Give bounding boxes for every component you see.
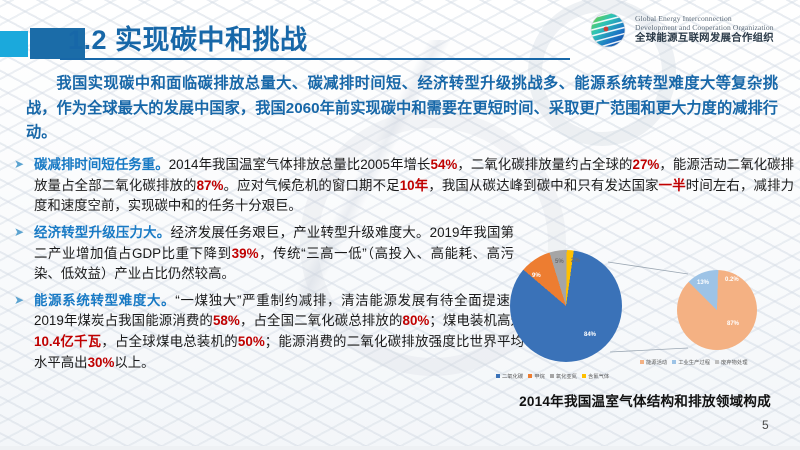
legend-greenhouse-gas: 二氧化碳 甲烷 氧化亚氮 含氟气体 (496, 372, 609, 380)
body-run: ，占全国二氧化碳总排放的 (240, 313, 403, 328)
pie-label-energy: 87% (727, 321, 739, 327)
slide-bottom-edge (0, 446, 800, 450)
body-run: 2014年我国温室气体排放总量比2005年增长 (169, 157, 431, 172)
list-item: ➤ 经济转型升级压力大。经济发展任务艰巨，产业转型升级难度大。2019年我国第二… (14, 223, 514, 285)
slide-header: 1.2 实现碳中和挑战 (0, 0, 800, 68)
highlight-value: 58% (213, 313, 240, 328)
legend-item: 甲烷 (528, 372, 545, 380)
pie-label-methane: 9% (532, 273, 541, 279)
legend-item: 氧化亚氮 (550, 372, 577, 380)
arrow-bullet-icon: ➤ (14, 224, 24, 241)
header-accent-square-cyan (0, 31, 28, 57)
highlight-value: 87% (197, 178, 224, 193)
organization-logo: Global Energy Interconnection Developmen… (588, 6, 796, 54)
page-title: 1.2 实现碳中和挑战 (68, 18, 308, 57)
body-run: ，占全球煤电总装机的 (101, 334, 238, 349)
highlight-value: 50% (238, 334, 265, 349)
highlight-value: 10年 (400, 178, 429, 193)
highlight-value: 54% (431, 157, 458, 172)
legend-swatch (672, 360, 676, 364)
highlight-value: 30% (88, 355, 115, 370)
legend-label: 能源活动 (646, 358, 667, 366)
legend-item: 含氟气体 (582, 372, 609, 380)
page-number: 5 (762, 418, 769, 432)
body-run: ，二氧化碳排放量约占全球的 (457, 157, 632, 172)
legend-label: 含氟气体 (588, 372, 609, 380)
legend-item: 二氧化碳 (496, 372, 523, 380)
bullet-text-2: 经济转型升级压力大。经济发展任务艰巨，产业转型升级难度大。2019年我国第二产业… (34, 223, 514, 285)
legend-label: 二氧化碳 (502, 372, 523, 380)
bullet-text-1: 碳减排时间短任务重。2014年我国温室气体排放总量比2005年增长54%，二氧化… (34, 155, 794, 217)
highlight-value: 27% (633, 157, 660, 172)
highlight-value: 10.4亿千瓦 (34, 334, 101, 349)
legend-swatch (582, 374, 586, 378)
pie-chart-greenhouse-gas (510, 250, 622, 362)
pie-label-co2: 84% (584, 332, 596, 338)
bullet-lead-1: 碳减排时间短任务重。 (34, 157, 169, 172)
legend-item: 工业生产过程 (672, 358, 710, 366)
pie-label-fgas: 2% (571, 258, 580, 264)
pie-label-industry: 13% (697, 280, 709, 286)
legend-label: 工业生产过程 (678, 358, 710, 366)
slide-canvas: 1.2 实现碳中和挑战 (0, 0, 800, 450)
highlight-value: 39% (232, 246, 259, 261)
header-underline (60, 58, 570, 60)
logo-english-line2: Development and Cooperation Organization (635, 24, 774, 33)
arrow-bullet-icon: ➤ (14, 156, 24, 173)
intro-paragraph: 我国实现碳中和面临碳排放总量大、碳减排时间短、经济转型升级挑战多、能源系统转型难… (26, 72, 778, 146)
legend-swatch (528, 374, 532, 378)
highlight-value: 一半 (659, 178, 686, 193)
legend-emission-sector: 能源活动 工业生产过程 废弃物处理 (640, 358, 748, 366)
body-run: 以上。 (114, 355, 154, 370)
highlight-value: 80% (403, 313, 430, 328)
legend-swatch (640, 360, 644, 364)
bullet-lead-2: 经济转型升级压力大。 (34, 225, 170, 240)
list-item: ➤ 能源系统转型难度大。“一煤独大”严重制约减排，清洁能源发展有待全面提速。20… (14, 291, 524, 374)
body-run: ，我国从碳达峰到碳中和只有发达国家 (428, 178, 658, 193)
body-run: 。应对气候危机的窗口期不足 (223, 178, 399, 193)
chart-caption: 2014年我国温室气体结构和排放领域构成 (492, 390, 798, 410)
pie-chart-emission-sector (677, 270, 757, 350)
logo-chinese-name: 全球能源互联网发展合作组织 (635, 33, 774, 45)
legend-swatch (550, 374, 554, 378)
legend-label: 废弃物处理 (721, 358, 748, 366)
legend-label: 氧化亚氮 (556, 372, 577, 380)
arrow-bullet-icon: ➤ (14, 292, 24, 309)
legend-item: 能源活动 (640, 358, 667, 366)
chart-area: 84% 9% 5% 2% 87% 13% 0.2% 二氧化碳 甲烷 氧化亚氮 含… (492, 248, 798, 448)
pie-label-waste: 0.2% (725, 277, 739, 283)
legend-item: 废弃物处理 (715, 358, 748, 366)
bullet-lead-3: 能源系统转型难度大。 (34, 293, 175, 308)
bullet-text-3: 能源系统转型难度大。“一煤独大”严重制约减排，清洁能源发展有待全面提速。2019… (34, 291, 524, 374)
list-item: ➤ 碳减排时间短任务重。2014年我国温室气体排放总量比2005年增长54%，二… (14, 155, 794, 217)
pie-label-n2o: 5% (555, 259, 564, 265)
legend-swatch (715, 360, 719, 364)
legend-label: 甲烷 (534, 372, 545, 380)
legend-swatch (496, 374, 500, 378)
globe-icon (588, 10, 628, 50)
